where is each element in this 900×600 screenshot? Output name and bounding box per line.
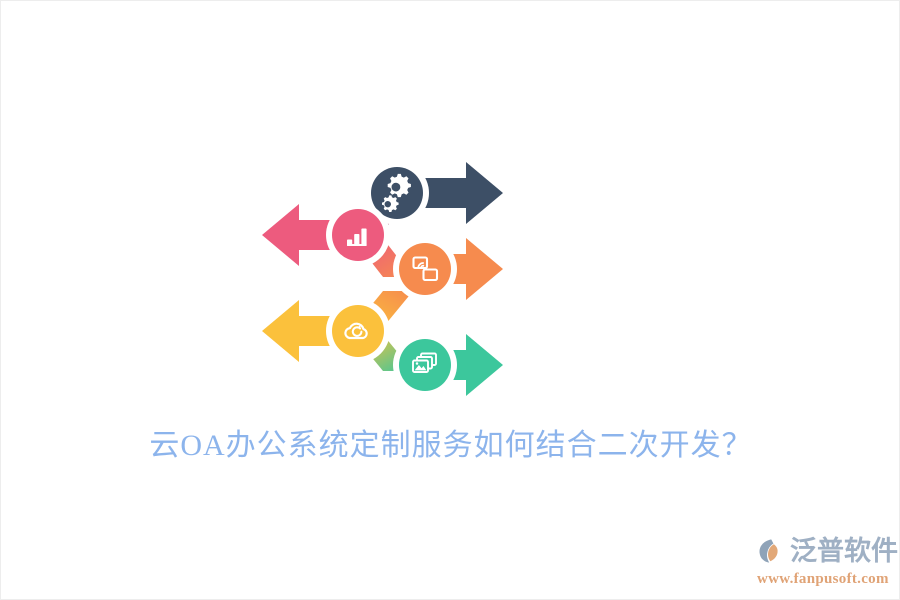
row-screen-share[interactable] [393,237,503,301]
process-diagram [251,131,531,401]
node-cloud-circle[interactable] [332,305,384,357]
fanpu-logo-icon [757,536,787,566]
watermark-logo: 泛普软件 www.fanpusoft.com [757,533,895,591]
row-cloud-sync[interactable] [262,299,390,363]
row-gallery[interactable] [393,333,503,397]
row-settings[interactable] [365,161,503,225]
brand-row: 泛普软件 [757,533,895,569]
row-analytics[interactable] [262,203,390,267]
brand-url: www.fanpusoft.com [757,570,895,588]
page-root: 云OA办公系统定制服务如何结合二次开发？ 泛普软件 www.fanpusoft.… [0,0,900,600]
page-title: 云OA办公系统定制服务如何结合二次开发？ [1,425,900,467]
brand-name: 泛普软件 [790,536,898,566]
